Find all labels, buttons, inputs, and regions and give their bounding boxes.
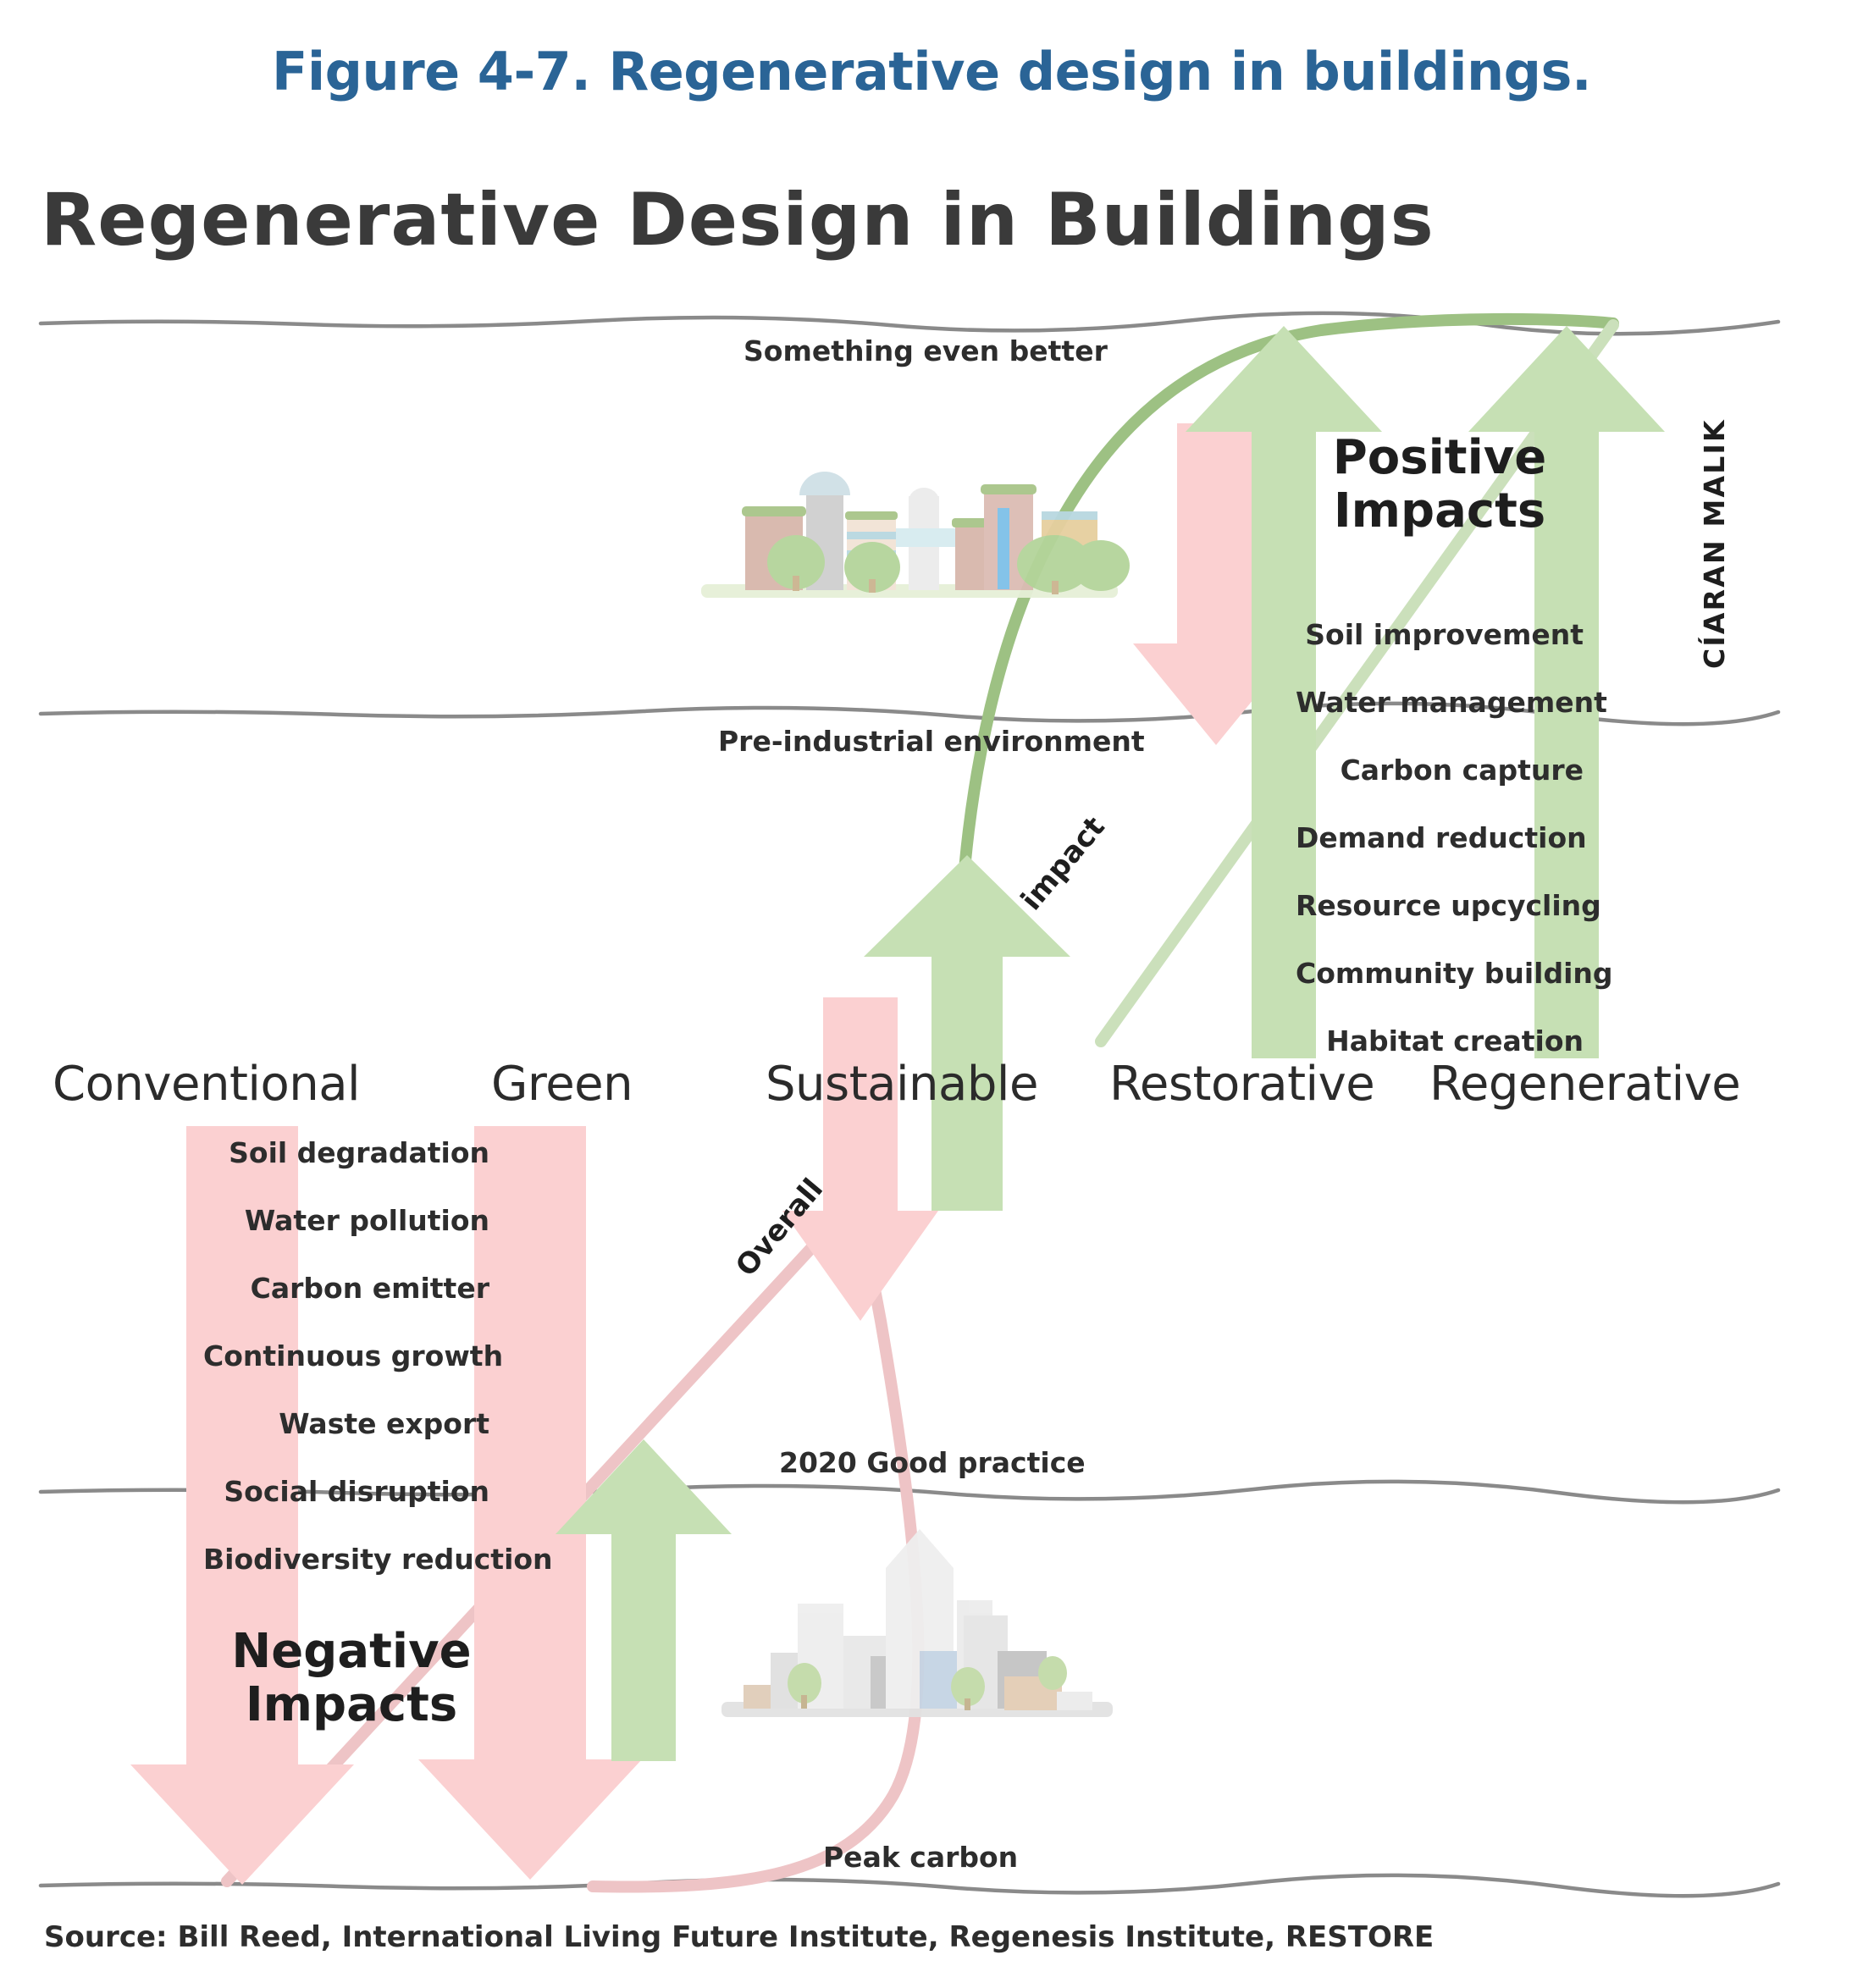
positive-impact-item: Community building xyxy=(1296,940,1584,1008)
grey-city-illustration xyxy=(721,1529,1113,1717)
negative-impact-item: Water pollution xyxy=(203,1187,489,1255)
divider-label-peak-carbon: Peak carbon xyxy=(823,1841,1018,1874)
negative-impacts-title-line1: Negative xyxy=(231,1624,471,1679)
stage-label-conventional: Conventional xyxy=(53,1057,360,1112)
figure-root: Figure 4-7. Regenerative design in build… xyxy=(0,0,1863,1988)
negative-impact-item: Waste export xyxy=(203,1390,489,1458)
stage-label-green: Green xyxy=(491,1057,633,1112)
negative-impact-item: Biodiversity reduction xyxy=(203,1526,489,1593)
negative-impact-item: Soil degradation xyxy=(203,1119,489,1187)
positive-impacts-list: Soil improvement Water management Carbon… xyxy=(1296,601,1584,1075)
negative-impacts-title: Negative Impacts xyxy=(212,1626,491,1731)
source-note: Source: Bill Reed, International Living … xyxy=(44,1920,1434,1954)
positive-impact-item: Habitat creation xyxy=(1296,1008,1584,1075)
divider-label-2020-good-practice: 2020 Good practice xyxy=(779,1446,1086,1479)
artist-credit: CÍARAN MALIK xyxy=(1698,418,1731,669)
positive-impacts-title: Positive Impacts xyxy=(1321,432,1558,538)
positive-impact-item: Carbon capture xyxy=(1296,737,1584,804)
divider-label-something-even-better: Something even better xyxy=(744,334,1108,367)
stage-label-sustainable: Sustainable xyxy=(766,1057,1038,1112)
negative-impacts-list: Soil degradation Water pollution Carbon … xyxy=(203,1119,489,1593)
positive-impact-item: Resource upcycling xyxy=(1296,872,1584,940)
positive-impact-item: Demand reduction xyxy=(1296,804,1584,872)
negative-impact-item: Continuous growth xyxy=(203,1323,489,1390)
negative-impact-item: Carbon emitter xyxy=(203,1255,489,1323)
arrow-down-sustainable xyxy=(782,997,938,1321)
positive-impacts-title-line1: Positive xyxy=(1333,430,1547,485)
divider-label-pre-industrial: Pre-industrial environment xyxy=(718,725,1145,758)
green-city-illustration xyxy=(701,472,1130,598)
positive-impacts-title-line2: Impacts xyxy=(1334,483,1545,538)
positive-impact-item: Soil improvement xyxy=(1296,601,1584,669)
negative-impacts-title-line2: Impacts xyxy=(246,1677,457,1732)
positive-impact-item: Water management xyxy=(1296,669,1584,737)
negative-impact-item: Social disruption xyxy=(203,1458,489,1526)
